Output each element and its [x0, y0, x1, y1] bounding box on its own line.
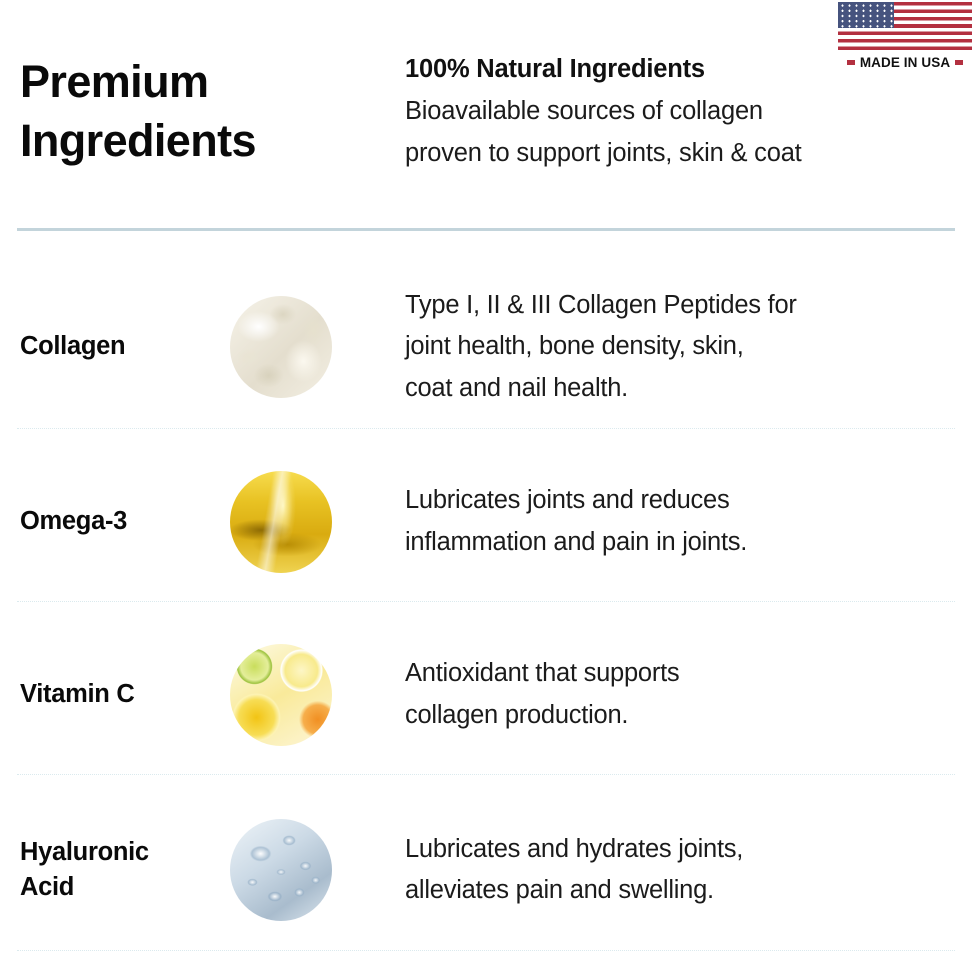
- ingredient-name-omega-3: Omega-3: [0, 504, 230, 539]
- ingredient-name-collagen: Collagen: [0, 329, 230, 364]
- header-left-column: Premium Ingredients: [0, 52, 385, 174]
- usa-flag-icon: [838, 2, 972, 50]
- omega-oil-image: [230, 471, 332, 573]
- header-right-column: 100% Natural Ingredients Bioavailable so…: [385, 52, 945, 174]
- ingredient-description-omega-3: Lubricates joints and reduces inflammati…: [405, 480, 972, 563]
- collagen-powder-image: [230, 296, 332, 398]
- header-subtitle-text: Bioavailable sources of collagen proven …: [405, 91, 945, 174]
- page-title: Premium Ingredients: [20, 52, 385, 171]
- ingredient-row-collagen: Collagen Type I, II & III Collagen Pepti…: [0, 266, 972, 428]
- ingredient-description-hyaluronic-acid: Lubricates and hydrates joints, alleviat…: [405, 829, 972, 912]
- row-divider-3: [17, 774, 955, 775]
- ingredient-row-hyaluronic-acid: Hyaluronic Acid Lubricates and hydrates …: [0, 790, 972, 950]
- ingredient-thumb-cell: [230, 819, 405, 921]
- flag-canton-stars: [838, 2, 894, 28]
- ingredient-name-hyaluronic-acid: Hyaluronic Acid: [0, 835, 230, 905]
- water-droplets-image: [230, 819, 332, 921]
- header-divider: [17, 228, 955, 231]
- row-divider-4: [17, 950, 955, 951]
- ingredient-thumb-cell: [230, 644, 405, 746]
- ingredient-row-omega-3: Omega-3 Lubricates joints and reduces in…: [0, 442, 972, 601]
- row-divider-2: [17, 601, 955, 602]
- citrus-fruit-image: [230, 644, 332, 746]
- header-subtitle-bold: 100% Natural Ingredients: [405, 52, 945, 86]
- ingredient-thumb-cell: [230, 296, 405, 398]
- ingredient-thumb-cell: [230, 471, 405, 573]
- ingredient-name-vitamin-c: Vitamin C: [0, 677, 230, 712]
- header: Premium Ingredients 100% Natural Ingredi…: [0, 52, 972, 174]
- ingredient-description-collagen: Type I, II & III Collagen Peptides for j…: [405, 285, 972, 409]
- ingredients-infographic: MADE IN USA Premium Ingredients 100% Nat…: [0, 0, 972, 959]
- ingredient-row-vitamin-c: Vitamin C Antioxidant that supports coll…: [0, 615, 972, 774]
- row-divider-1: [17, 428, 955, 429]
- ingredient-description-vitamin-c: Antioxidant that supports collagen produ…: [405, 653, 972, 736]
